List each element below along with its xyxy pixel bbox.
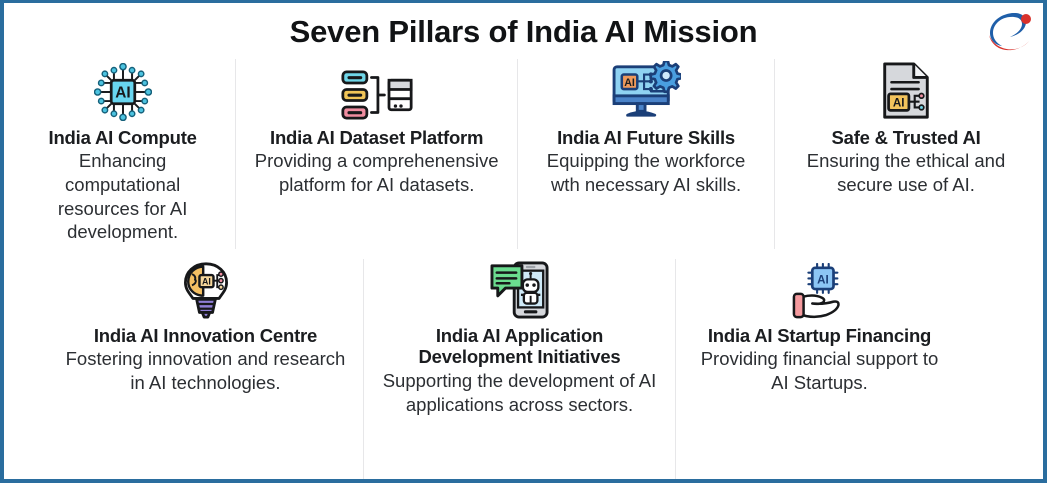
header: Seven Pillars of India AI Mission [4,9,1043,49]
pillar-description: Supporting the development of AI applica… [378,369,661,416]
page-title: Seven Pillars of India AI Mission [4,9,1043,49]
pillar-title: India AI Future Skills [532,127,760,148]
pillar-description: Equipping the workforce wth necessary AI… [532,149,760,196]
pillar-description: Fostering innovation and research in AI … [62,347,349,394]
pillar-india-ai-dataset-platform[interactable]: India AI Dataset Platform Providing a co… [236,59,518,249]
pillar-title: India AI Startup Financing [690,325,949,346]
ai-lightbulb-brain-icon: AI [62,259,349,319]
pillar-title: Safe & Trusted AI [789,127,1023,148]
pillar-title: India AI Application Development Initiat… [378,325,661,368]
pillar-india-ai-application-development[interactable]: India AI Application Development Initiat… [364,259,676,479]
svg-text:AI: AI [817,274,829,286]
pillar-india-ai-innovation-centre[interactable]: AI [48,259,364,479]
pillars-row-bottom: AI [4,259,1043,479]
pillar-safe-and-trusted-ai[interactable]: AI Safe & Trusted AI Ensuring the ethica… [775,59,1037,249]
dataset-platform-icon [250,59,503,121]
svg-text:AI: AI [893,96,905,109]
pillar-title: India AI Dataset Platform [250,127,503,148]
pillar-description: Enhancing computational resources for AI… [24,149,221,244]
ai-monitor-gear-icon: AI [532,59,760,121]
svg-text:AI: AI [115,84,130,101]
svg-text:AI: AI [624,77,635,89]
pillars-row-top: AI India AI Compute Enhancing computatio… [4,59,1043,249]
ai-chatbot-phone-icon [378,259,661,319]
pillar-india-ai-startup-financing[interactable]: AI India AI Startup Financing Providing … [676,259,963,479]
pillar-description: Providing a comprehenensive platform for… [250,149,503,196]
ai-document-icon: AI [789,59,1023,121]
pillar-india-ai-future-skills[interactable]: AI [518,59,775,249]
pillar-description: Ensuring the ethical and secure use of A… [789,149,1023,196]
pillar-title: India AI Compute [24,127,221,148]
pillar-description: Providing financial support to AI Startu… [690,347,949,394]
pillar-india-ai-compute[interactable]: AI India AI Compute Enhancing computatio… [10,59,236,249]
company-logo [981,7,1035,57]
pillar-title: India AI Innovation Centre [62,325,349,346]
infographic-root: Seven Pillars of India AI Mission [0,0,1047,483]
ai-chip-in-hand-icon: AI [690,259,949,319]
svg-text:AI: AI [202,276,211,286]
infographic-canvas: Seven Pillars of India AI Mission [4,3,1043,479]
ai-chip-icon: AI [24,59,221,121]
